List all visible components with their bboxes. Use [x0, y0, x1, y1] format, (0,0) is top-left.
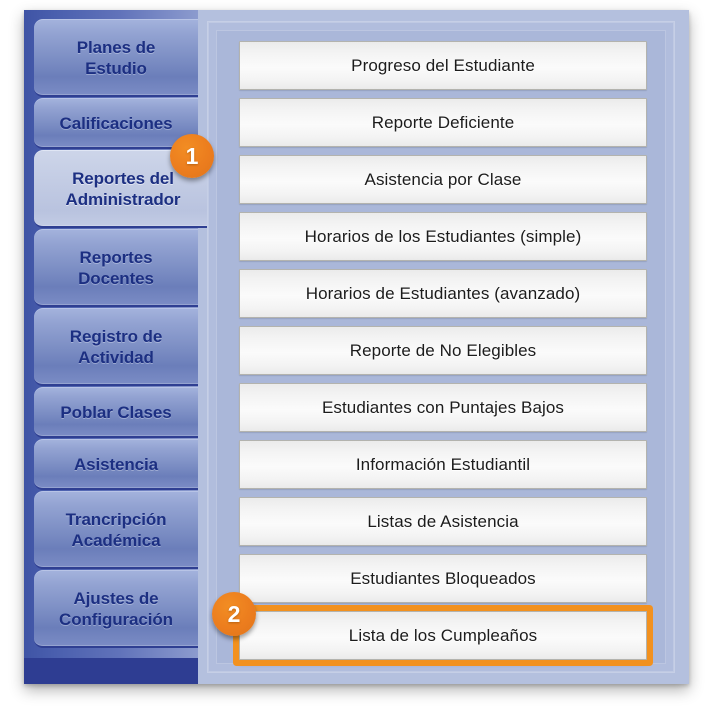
- report-button-reporte-de-no-elegibles[interactable]: Reporte de No Elegibles: [239, 326, 647, 375]
- sidebar-navigation: Planes deEstudioCalificacionesReportes d…: [24, 10, 198, 684]
- report-button-label: Estudiantes Bloqueados: [350, 569, 536, 589]
- report-button-informaci-n-estudiantil[interactable]: Información Estudiantil: [239, 440, 647, 489]
- report-button-lista-de-los-cumplea-os[interactable]: Lista de los Cumpleaños: [239, 611, 647, 660]
- sidebar-item-label: ReportesDocentes: [74, 247, 158, 289]
- report-button-label: Estudiantes con Puntajes Bajos: [322, 398, 564, 418]
- report-button-label: Reporte de No Elegibles: [350, 341, 537, 361]
- sidebar-item-label: Poblar Clases: [56, 402, 175, 423]
- sidebar-bottom-strip: [24, 658, 198, 684]
- step-badge-2-number: 2: [228, 603, 241, 626]
- report-button-label: Asistencia por Clase: [365, 170, 522, 190]
- sidebar-item-label: Registro deActividad: [66, 326, 166, 368]
- step-badge-1-number: 1: [186, 145, 199, 168]
- sidebar-item-ajustes-de-configuraci-n[interactable]: Ajustes deConfiguración: [34, 570, 198, 648]
- report-button-list: Progreso del EstudianteReporte Deficient…: [239, 41, 647, 668]
- application-window: Planes deEstudioCalificacionesReportes d…: [24, 10, 689, 684]
- report-button-horarios-de-estudiantes-avanzado[interactable]: Horarios de Estudiantes (avanzado): [239, 269, 647, 318]
- sidebar-item-label: Reportes delAdministrador: [62, 168, 185, 210]
- report-button-label: Listas de Asistencia: [367, 512, 518, 532]
- sidebar-item-poblar-clases[interactable]: Poblar Clases: [34, 387, 198, 438]
- content-panel: Progreso del EstudianteReporte Deficient…: [207, 21, 675, 673]
- sidebar-item-label: Calificaciones: [56, 113, 177, 134]
- report-button-horarios-de-los-estudiantes-simple[interactable]: Horarios de los Estudiantes (simple): [239, 212, 647, 261]
- sidebar-item-calificaciones[interactable]: Calificaciones: [34, 98, 198, 149]
- report-button-label: Información Estudiantil: [356, 455, 530, 475]
- sidebar-tab-list: Planes deEstudioCalificacionesReportes d…: [34, 19, 198, 649]
- report-button-label: Progreso del Estudiante: [351, 56, 535, 76]
- step-badge-2: 2: [212, 592, 256, 636]
- report-button-estudiantes-bloqueados[interactable]: Estudiantes Bloqueados: [239, 554, 647, 603]
- sidebar-item-label: Ajustes deConfiguración: [55, 588, 177, 630]
- report-button-label: Horarios de los Estudiantes (simple): [305, 227, 582, 247]
- report-button-reporte-deficiente[interactable]: Reporte Deficiente: [239, 98, 647, 147]
- report-button-estudiantes-con-puntajes-bajos[interactable]: Estudiantes con Puntajes Bajos: [239, 383, 647, 432]
- sidebar-item-planes-de-estudio[interactable]: Planes deEstudio: [34, 19, 198, 97]
- report-button-label: Lista de los Cumpleaños: [349, 626, 537, 646]
- report-button-label: Reporte Deficiente: [372, 113, 515, 133]
- report-button-progreso-del-estudiante[interactable]: Progreso del Estudiante: [239, 41, 647, 90]
- sidebar-item-registro-de-actividad[interactable]: Registro deActividad: [34, 308, 198, 386]
- sidebar-item-label: Planes deEstudio: [73, 37, 159, 79]
- sidebar-item-trancripci-n-acad-mica[interactable]: TrancripciónAcadémica: [34, 491, 198, 569]
- step-badge-1: 1: [170, 134, 214, 178]
- sidebar-item-asistencia[interactable]: Asistencia: [34, 439, 198, 490]
- report-button-asistencia-por-clase[interactable]: Asistencia por Clase: [239, 155, 647, 204]
- report-button-listas-de-asistencia[interactable]: Listas de Asistencia: [239, 497, 647, 546]
- report-button-label: Horarios de Estudiantes (avanzado): [306, 284, 581, 304]
- sidebar-item-label: TrancripciónAcadémica: [62, 509, 171, 551]
- sidebar-item-reportes-docentes[interactable]: ReportesDocentes: [34, 229, 198, 307]
- sidebar-item-label: Asistencia: [70, 454, 162, 475]
- report-button-container: Progreso del EstudianteReporte Deficient…: [216, 30, 666, 664]
